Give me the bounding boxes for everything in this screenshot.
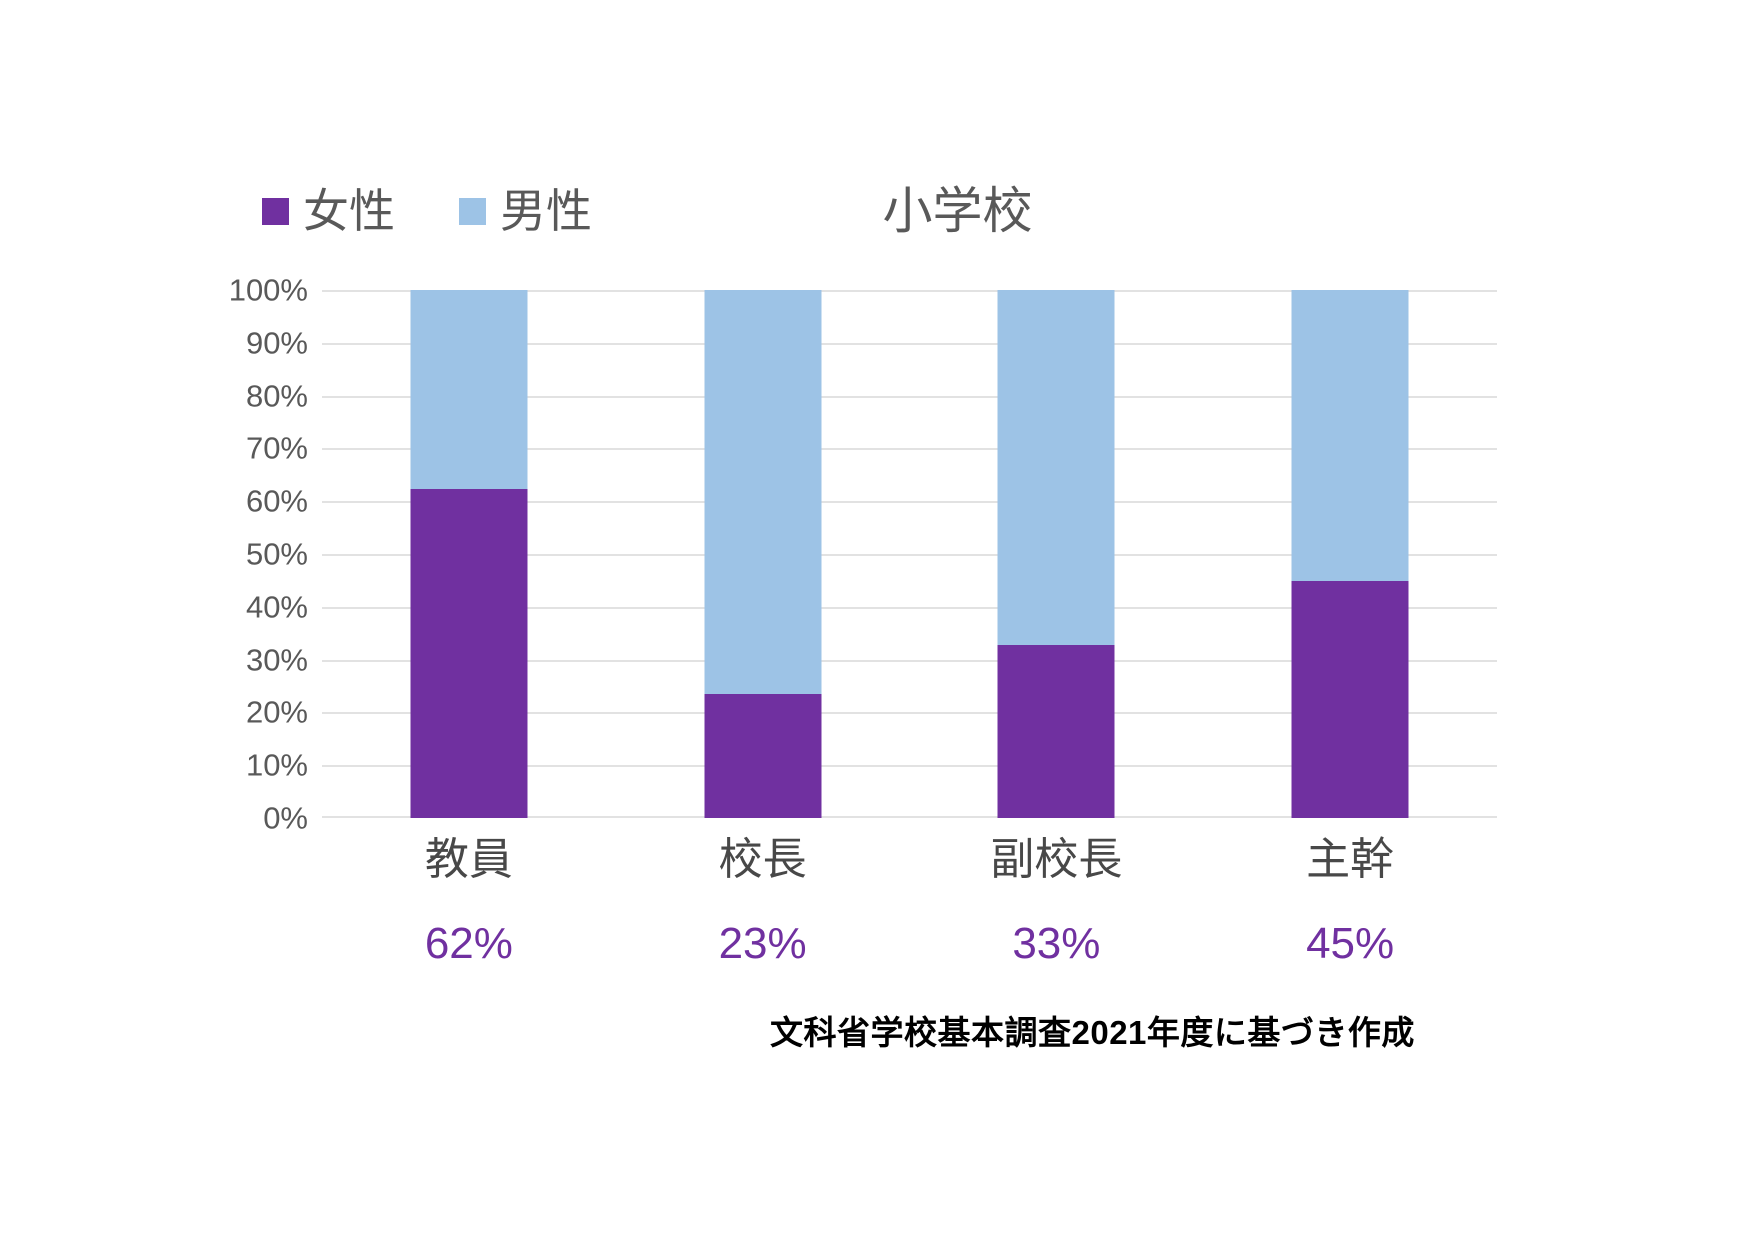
bar-segment-male[interactable] [704,290,821,694]
bar-value-label: 62% [322,920,616,968]
bar-segment-female[interactable] [410,489,527,818]
y-axis-tick-label: 30% [246,644,308,675]
bar-value-label: 45% [1203,920,1497,968]
bar-segment-male[interactable] [1292,290,1409,581]
legend-label: 男性 [500,188,592,234]
y-axis-tick-label: 80% [246,380,308,411]
y-axis-tick-label: 40% [246,591,308,622]
bar-segment-female[interactable] [704,694,821,818]
stacked-bar[interactable] [410,290,527,818]
legend-entry[interactable]: 男性 [459,188,592,234]
y-axis-tick-label: 50% [246,539,308,570]
legend-label: 女性 [303,188,395,234]
y-axis-tick-label: 0% [263,803,308,834]
y-axis-tick-label: 100% [229,275,308,306]
bar-slot [1203,290,1497,818]
legend-swatch-icon [459,198,486,225]
x-axis: 教員校長副校長主幹 [322,836,1497,884]
legend-entry[interactable]: 女性 [262,188,395,234]
bar-segment-female[interactable] [1292,581,1409,818]
bar-slot [322,290,616,818]
x-axis-category-label: 教員 [322,836,616,884]
x-axis-category-label: 校長 [616,836,910,884]
stacked-bar[interactable] [704,290,821,818]
bar-slot [910,290,1204,818]
x-axis-category-label: 主幹 [1203,836,1497,884]
bar-value-label: 23% [616,920,910,968]
y-axis-tick-label: 90% [246,327,308,358]
chart-title-text: 小学校 [883,183,1033,239]
bar-value-label: 33% [910,920,1204,968]
value-label-row: 62%23%33%45% [322,920,1497,968]
source-annotation: 文科省学校基本調査2021年度に基づき作成 [770,1006,1415,1054]
y-axis-tick-label: 70% [246,433,308,464]
y-axis-tick-label: 20% [246,697,308,728]
legend-swatch-icon [262,198,289,225]
y-axis: 100%90%80%70%60%50%40%30%20%10%0% [200,290,308,818]
x-axis-category-label: 副校長 [910,836,1204,884]
chart-legend: 女性男性 [262,188,592,234]
y-axis-tick-label: 60% [246,486,308,517]
bars-layer [322,290,1497,818]
y-axis-tick-label: 10% [246,750,308,781]
bar-segment-male[interactable] [410,290,527,489]
stacked-bar[interactable] [998,290,1115,818]
bar-segment-female[interactable] [998,645,1115,818]
plot-area [322,290,1497,818]
bar-segment-male[interactable] [998,290,1115,645]
stacked-bar[interactable] [1292,290,1409,818]
bar-slot [616,290,910,818]
chart-canvas: 女性男性 小学校 100%90%80%70%60%50%40%30%20%10%… [0,0,1755,1241]
